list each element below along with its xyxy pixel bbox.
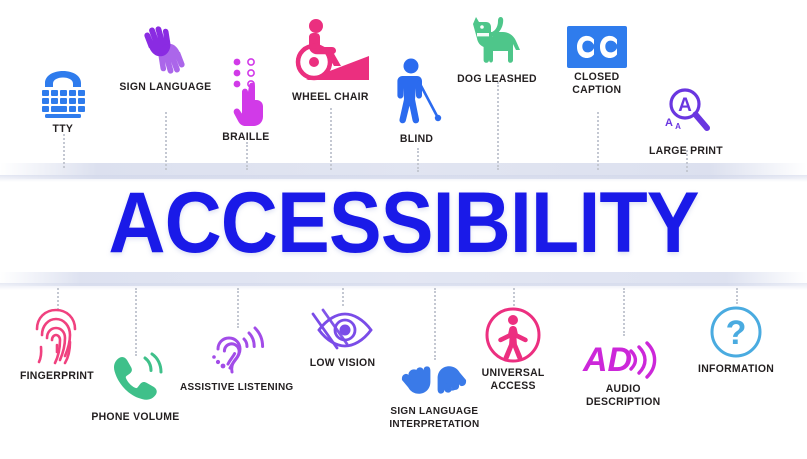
page-title: ACCESSIBILITY [32,180,774,266]
item-large-print[interactable]: A A A LARGE PRINT [606,84,766,158]
connector-low-vision [342,288,344,306]
connector-blind [417,148,419,172]
svg-text:AD: AD [582,341,632,379]
universal-access-icon [484,306,542,364]
svg-text:?: ? [726,314,747,352]
low-vision-eye-icon [307,306,377,354]
information-question-icon: ? [708,304,764,360]
svg-text:A: A [665,117,673,129]
accessibility-infographic: ACCESSIBILITY [0,0,807,459]
connector-assistive-listening [237,288,239,328]
item-label: UNIVERSAL ACCESS [482,367,545,392]
item-label: BLIND [400,133,433,146]
closed-caption-icon [567,26,627,68]
phone-volume-icon [107,352,163,408]
item-information[interactable]: ? INFORMATION [656,304,807,376]
connector-closed-caption [597,112,599,170]
connector-universal-access [513,288,515,306]
connector-information [736,288,738,304]
connector-dog-leashed [497,82,499,170]
item-label: TTY [53,123,74,136]
bottom-divider-band [0,272,807,286]
item-label: ASSISTIVE LISTENING [180,381,293,394]
item-label: SIGN LANGUAGE INTERPRETATION [389,405,479,430]
connector-braille [246,142,248,170]
item-label: INFORMATION [698,363,774,376]
item-label: BRAILLE [222,131,269,144]
svg-text:A: A [678,95,692,116]
item-label: AUDIO DESCRIPTION [586,383,661,408]
audio-description-icon: AD [581,340,665,380]
connector-wheel-chair [330,108,332,170]
item-label: LARGE PRINT [649,145,723,158]
svg-text:A: A [675,122,681,131]
item-label: PHONE VOLUME [91,411,179,424]
tty-icon [37,66,89,120]
ear-sound-icon [207,324,267,378]
connector-audio-description [623,288,625,336]
magnifier-letter-a-icon: A A A [655,84,717,142]
connector-tty [63,134,65,168]
